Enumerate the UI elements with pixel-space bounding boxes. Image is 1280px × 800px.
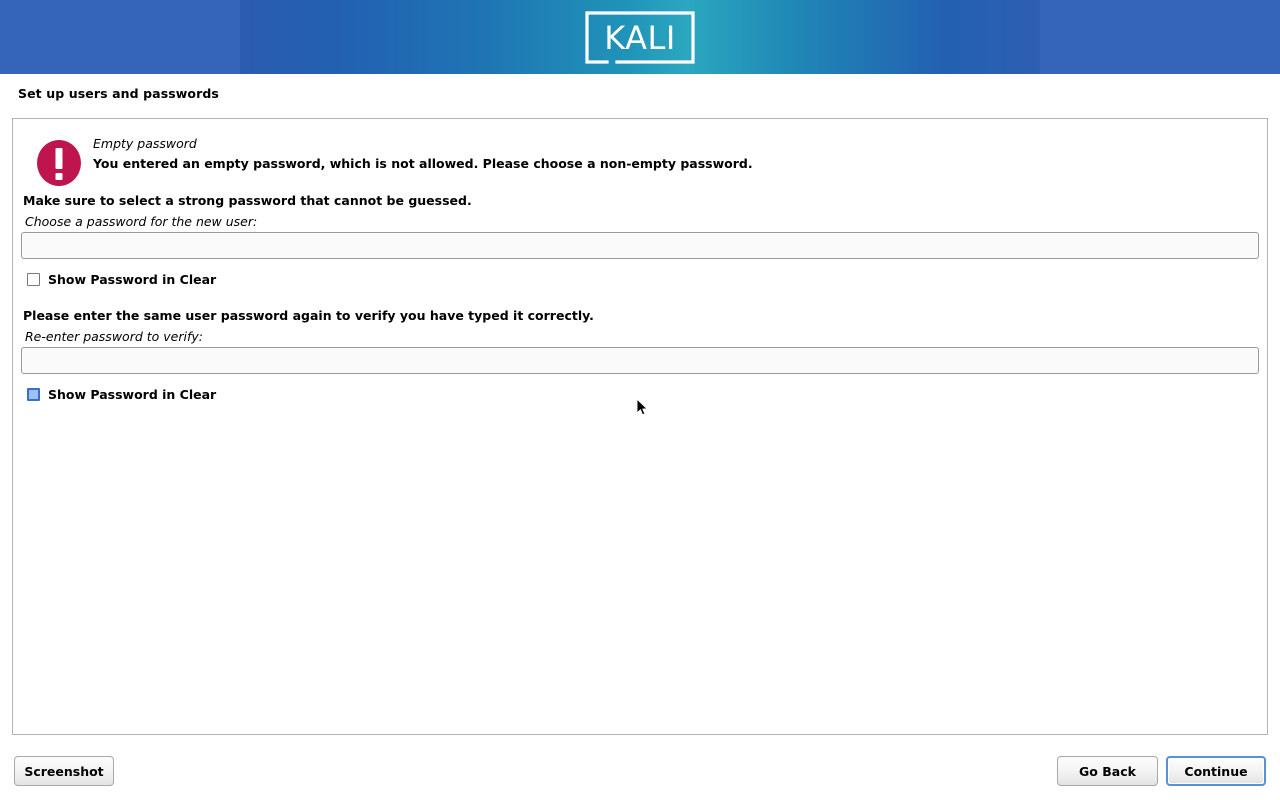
verify-password-input[interactable] — [21, 347, 1259, 374]
show-password-checkbox-row-1[interactable]: Show Password in Clear — [27, 271, 216, 287]
verify-field-label: Re-enter password to verify: — [25, 329, 203, 344]
show-password-label-2: Show Password in Clear — [48, 388, 216, 401]
show-password-checkbox-1[interactable] — [27, 273, 40, 286]
show-password-checkbox-2[interactable] — [27, 388, 40, 401]
error-description: You entered an empty password, which is … — [93, 154, 753, 173]
error-exclamation-icon — [35, 139, 83, 187]
password-input[interactable] — [21, 232, 1259, 259]
screenshot-button[interactable]: Screenshot — [14, 756, 114, 786]
kali-logo: KALI — [583, 9, 697, 66]
show-password-label-1: Show Password in Clear — [48, 273, 216, 286]
svg-text:KALI: KALI — [604, 19, 676, 57]
installer-banner: KALI — [0, 0, 1280, 74]
strong-password-note: Make sure to select a strong password th… — [23, 193, 472, 208]
error-title: Empty password — [93, 135, 753, 152]
show-password-checkbox-row-2[interactable]: Show Password in Clear — [27, 386, 216, 402]
password-field-label: Choose a password for the new user: — [25, 214, 257, 229]
continue-button[interactable]: Continue — [1166, 756, 1266, 786]
go-back-button[interactable]: Go Back — [1057, 756, 1158, 786]
page-title: Set up users and passwords — [18, 86, 219, 101]
installer-content-panel: Empty password You entered an empty pass… — [12, 118, 1268, 735]
verify-password-note: Please enter the same user password agai… — [23, 308, 594, 323]
